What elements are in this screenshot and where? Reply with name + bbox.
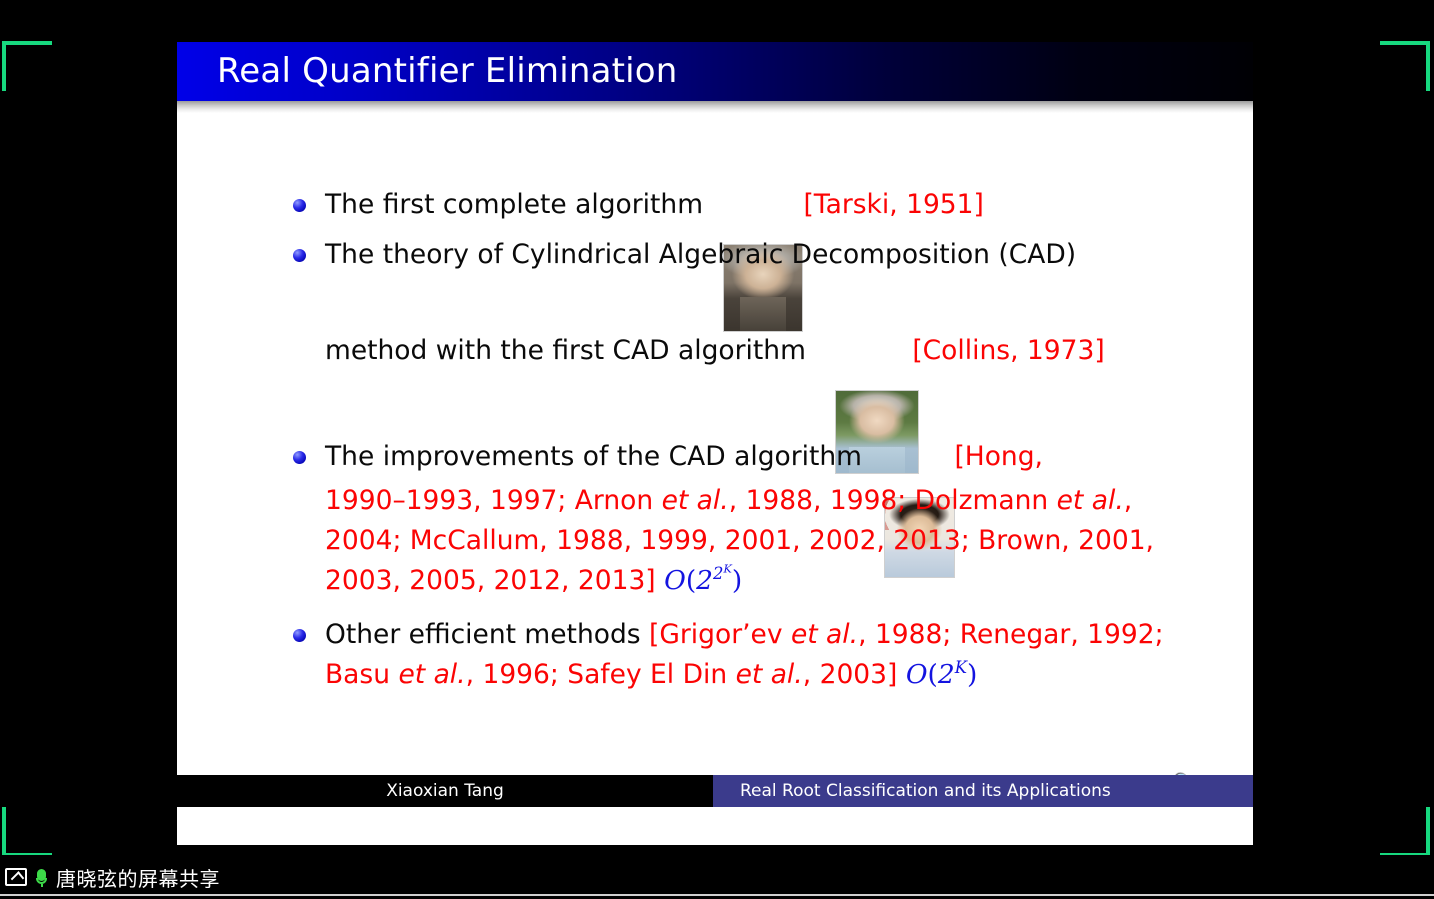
slide-title-bar: Real Quantifier Elimination [177,42,1253,101]
screen-share-icon [5,868,27,886]
list-item: The theory of Cylindrical Algebraic Deco… [289,235,1219,275]
microphone-icon[interactable] [36,869,47,886]
bullet-list: The first complete algorithm [Tarski, 19… [289,185,1219,695]
bullet-text: The first complete algorithm [325,189,703,220]
list-item: The first complete algorithm [Tarski, 19… [289,185,1219,225]
citation-collins: [Collins, 1973] [912,335,1104,366]
citation-text: 2004; McCallum, 1988, 1999, 2001, 2002, … [325,525,1154,556]
share-corner-bottom-right [1380,807,1430,857]
bullet-dot-icon [293,629,306,642]
presentation-slide: Real Quantifier Elimination The first co… [177,42,1253,845]
share-corner-top-right [1380,41,1430,91]
citation-text: 2003, 2005, 2012, 2013] [325,565,656,596]
citation-other-line2: Basu et al., 1996; Safey El Din et al., … [289,655,1219,695]
bullet-text: The theory of Cylindrical Algebraic Deco… [325,239,1076,270]
share-corner-top-left [2,41,52,91]
list-item: The improvements of the CAD algorithm [H… [289,437,1219,477]
sharebar-separator [0,894,1434,896]
citation-hong-line3: 2004; McCallum, 1988, 1999, 2001, 2002, … [289,521,1219,561]
complexity-hong: O(22K) [664,565,742,596]
bullet-text: Other efficient methods [325,619,641,650]
bullet-text: The improvements of the CAD algorithm [325,441,862,472]
list-item: Other efficient methods [Grigor’ev et al… [289,615,1219,655]
bullet-continuation: method with the first CAD algorithm [Col… [289,331,1219,371]
citation-other-line1: [Grigor’ev et al., 1988; Renegar, 1992; [649,619,1164,650]
footer-presentation-title: Real Root Classification and its Applica… [713,775,1253,807]
bullet-dot-icon [293,451,306,464]
bullet-text-continued: method with the first CAD algorithm [325,335,806,366]
complexity-other: O(2K) [906,659,978,690]
citation-hong-line2: 1990–1993, 1997; Arnon et al., 1988, 199… [289,481,1219,521]
share-label: 唐晓弦的屏幕共享 [56,863,220,892]
footer-author: Xiaoxian Tang [177,775,713,807]
bullet-dot-icon [293,249,306,262]
citation-hong-open: [Hong, [954,441,1043,472]
slide-body: The first complete algorithm [Tarski, 19… [177,113,1253,807]
citation-tarski: [Tarski, 1951] [803,189,983,220]
page-title: Real Quantifier Elimination [217,51,678,91]
title-shadow-gradient [177,101,1253,113]
screen-share-status-bar: 唐晓弦的屏幕共享 [0,855,1434,899]
slide-footer: Xiaoxian Tang Real Root Classification a… [177,775,1253,807]
share-corner-bottom-left [2,807,52,857]
bullet-dot-icon [293,199,306,212]
citation-text: Basu et al., 1996; Safey El Din et al., … [325,659,897,690]
citation-hong-line4: 2003, 2005, 2012, 2013] O(22K) [289,561,1219,601]
